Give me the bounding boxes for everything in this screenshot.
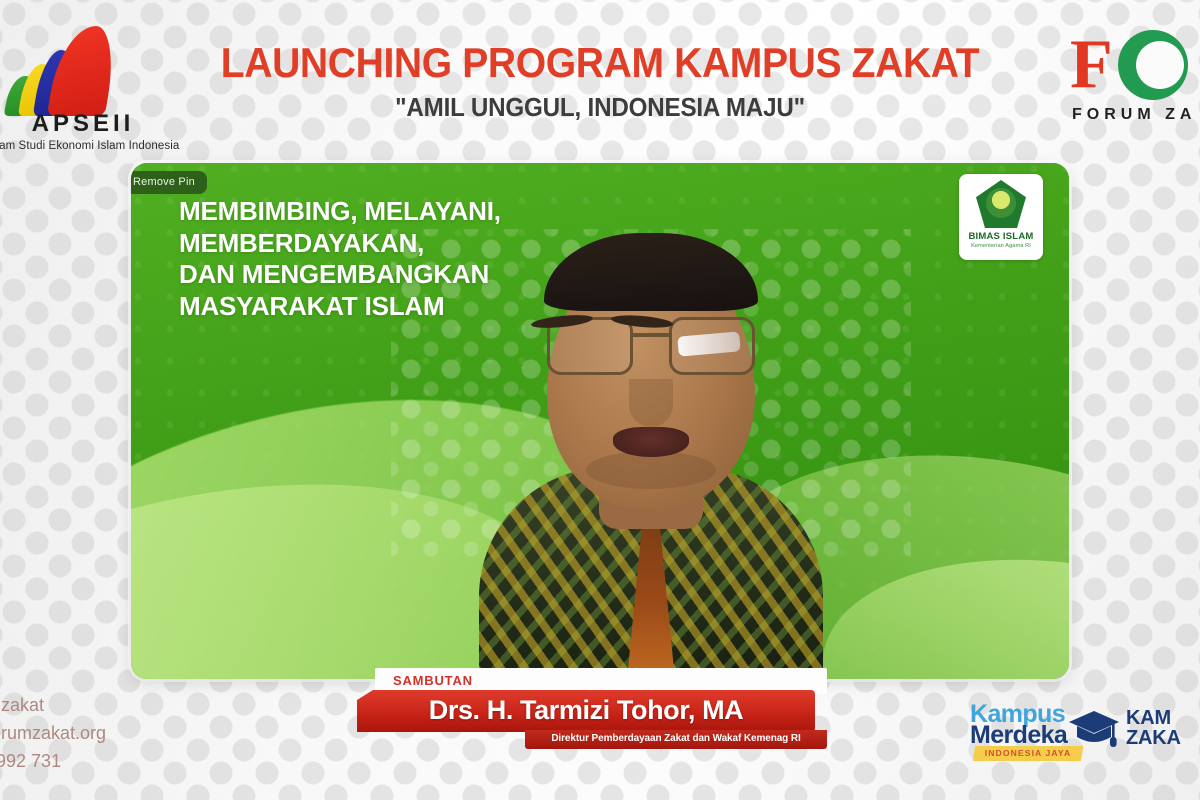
contact-info: mzakat forumzakat.org 1992 731 [0,692,196,776]
bimas-islam-subtitle: Kementerian Agama RI [959,243,1043,249]
presentation-screenshot: APSEII gram Studi Ekonomi Islam Indonesi… [0,0,1200,800]
kampus-merdeka-ribbon-text: INDONESIA JAYA [974,748,1082,758]
section-label: SAMBUTAN [393,673,473,688]
video-tile[interactable]: Remove Pin MEMBIMBING, MELAYANI, MEMBERD… [131,163,1069,679]
contact-line-3: 1992 731 [0,748,196,776]
kampus-zakat-logo: KAM ZAKA [1068,706,1200,762]
crescent-icon [1118,30,1188,100]
lower-third-banner: SAMBUTAN Drs. H. Tarmizi Tohor, MA Direk… [357,668,827,756]
speaker-video-figure [471,249,831,679]
contact-line-1: mzakat [0,692,196,720]
contact-line-2: forumzakat.org [0,720,196,748]
slide-headline: MEMBIMBING, MELAYANI, MEMBERDAYAKAN, DAN… [179,196,501,323]
header-band: APSEII gram Studi Ekonomi Islam Indonesi… [0,0,1200,152]
speaker-nose [629,379,673,427]
page-title: LAUNCHING PROGRAM KAMPUS ZAKAT [42,39,1158,87]
glasses-lens-right [669,317,755,375]
page-subtitle: "AMIL UNGGUL, INDONESIA MAJU" [42,92,1158,123]
bimas-islam-badge: BIMAS ISLAM Kementerian Agama RI [959,174,1043,260]
speaker-name: Drs. H. Tarmizi Tohor, MA [357,695,815,726]
speaker-role: Direktur Pemberdayaan Zakat dan Wakaf Ke… [525,733,827,744]
apseii-logo-tagline: gram Studi Ekonomi Islam Indonesia [0,140,198,152]
pentagon-emblem-icon [976,180,1026,228]
remove-pin-button[interactable]: Remove Pin [131,171,207,194]
glasses-bridge [631,333,671,337]
bimas-islam-title: BIMAS ISLAM [959,231,1043,242]
forum-zakat-letter-f: F [1070,32,1113,98]
forum-zakat-logo: F FORUM ZA [1056,28,1200,136]
speaker-mouth [613,427,689,457]
kampus-zakat-wordmark: KAM ZAKA [1126,708,1181,748]
forum-zakat-wordmark: FORUM ZA [1072,106,1196,124]
graduation-cap-icon [1068,708,1120,750]
